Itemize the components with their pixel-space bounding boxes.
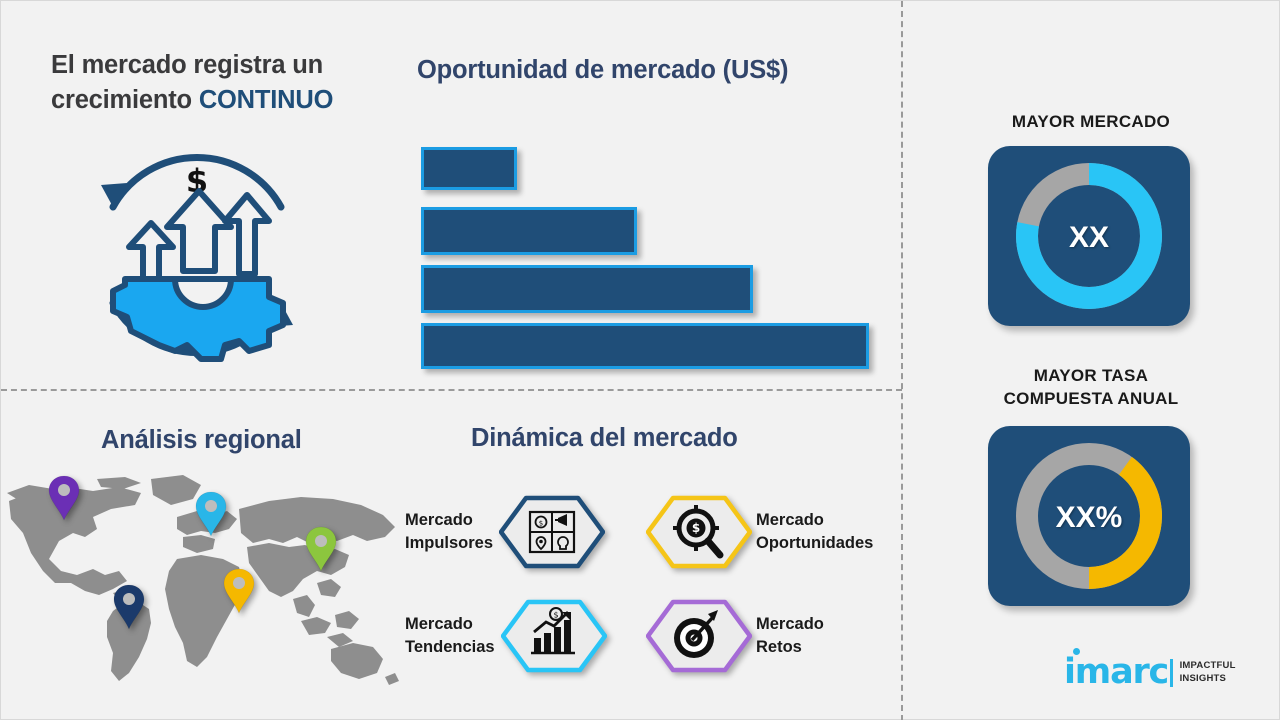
dynamics-item-4[interactable]: MercadoRetos [646,598,824,674]
bar-fill [421,147,517,190]
bar-3 [421,265,753,313]
dynamics-label-line1: Mercado [405,613,495,636]
growth-heading: El mercado registra un crecimiento CONTI… [51,48,396,118]
growth-heading-line1: El mercado registra un [51,51,323,79]
pin-asia[interactable] [304,525,338,578]
dynamics-item-1[interactable]: MercadoImpulsores$ [405,494,605,570]
dynamics-item-2[interactable]: $MercadoOportunidades [646,494,873,570]
pin-europe[interactable] [194,490,228,543]
infographic-slide: El mercado registra un crecimiento CONTI… [0,0,1280,720]
dynamics-label-line2: Impulsores [405,532,493,555]
bar-4 [421,323,869,369]
dynamics-item-label: MercadoRetos [756,613,824,660]
dynamics-label-line2: Tendencias [405,636,495,659]
kpi-value-largest-market: XX [988,221,1190,255]
growth-bar-chart-dollar-icon[interactable]: $ [501,598,607,674]
opportunity-heading: Oportunidad de mercado (US$) [417,56,788,85]
growth-heading-line2: crecimiento [51,86,199,114]
bar-fill [421,265,753,313]
dynamics-item-label: MercadoTendencias [405,613,495,660]
dynamics-label-line1: Mercado [756,613,824,636]
world-map [1,471,401,686]
kpi-title-largest-market: MAYOR MERCADO [961,111,1221,134]
vertical-divider [901,1,903,720]
imarc-logo: imarc IMPACTFUL INSIGHTS [1064,656,1236,689]
logo-tagline-line1: IMPACTFUL [1180,660,1236,673]
bar-1 [421,147,517,190]
kpi-title-line1: MAYOR TASA [961,365,1221,388]
bar-fill [421,207,637,255]
pin-south-america[interactable] [112,583,146,636]
dynamics-label-line1: Mercado [756,509,873,532]
bar-fill [421,323,869,369]
kpi-value-highest-cagr: XX% [988,501,1190,535]
dynamics-heading: Dinámica del mercado [471,424,738,453]
growth-gear-arrows-icon: $ [83,139,311,371]
target-dart-icon[interactable] [646,598,752,674]
opportunity-bar-chart [421,147,881,352]
pin-africa[interactable] [222,567,256,620]
svg-text:$: $ [553,611,558,620]
kpi-title-line2: COMPUESTA ANUAL [961,388,1221,411]
dynamics-item-label: MercadoImpulsores [405,509,493,556]
svg-text:$: $ [539,520,543,528]
dynamics-label-line2: Retos [756,636,824,659]
dynamics-item-3[interactable]: MercadoTendencias$ [405,598,607,674]
svg-text:$: $ [692,521,700,535]
horizontal-divider [1,389,902,391]
pin-north-america[interactable] [47,474,81,527]
kpi-title-text: MAYOR MERCADO [961,111,1221,134]
bar-2 [421,207,637,255]
magnifier-target-dollar-icon[interactable]: $ [646,494,752,570]
logo-tagline: IMPACTFUL INSIGHTS [1180,660,1236,686]
dynamics-label-line2: Oportunidades [756,532,873,555]
kpi-title-highest-cagr: MAYOR TASACOMPUESTA ANUAL [961,365,1221,410]
dynamics-item-label: MercadoOportunidades [756,509,873,556]
growth-heading-accent: CONTINUO [199,86,333,114]
logo-tagline-line2: INSIGHTS [1180,673,1236,686]
logo-separator [1170,659,1173,687]
regional-heading: Análisis regional [101,426,302,455]
dynamics-label-line1: Mercado [405,509,493,532]
logo-wordmark: imarc [1064,656,1168,689]
puzzle-pieces-icon[interactable]: $ [499,494,605,570]
logo-dot-icon [1073,648,1080,655]
